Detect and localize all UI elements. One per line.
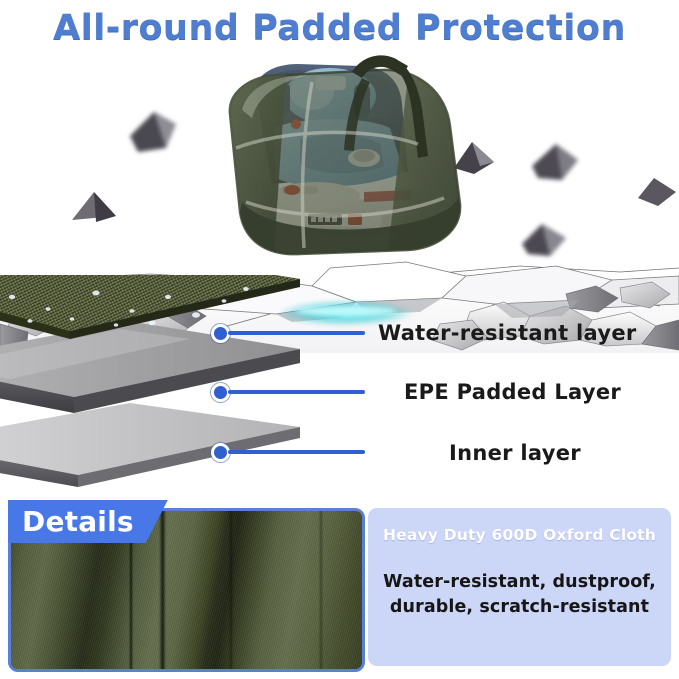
page-title: All-round Padded Protection bbox=[0, 8, 679, 48]
callout-label-epe-padded: EPE Padded Layer bbox=[404, 380, 621, 404]
fabric-fold-seam bbox=[229, 508, 233, 672]
callout-label-water-resistant: Water-resistant layer bbox=[378, 321, 637, 345]
callout-label-inner: Inner layer bbox=[449, 441, 581, 465]
car-seat-in-travel-bag bbox=[212, 52, 470, 270]
fabric-info-heading: Heavy Duty 600D Oxford Cloth bbox=[374, 526, 665, 544]
callout-line-epe-padded bbox=[228, 390, 365, 394]
fabric-info-body: Water-resistant, dustproof, durable, scr… bbox=[374, 570, 665, 621]
debris-shard bbox=[520, 220, 570, 260]
debris-shard bbox=[124, 106, 182, 158]
debris-shard bbox=[528, 140, 582, 184]
layer-stack-diagram bbox=[0, 275, 420, 490]
fabric-fold-seam bbox=[159, 508, 166, 672]
callout-line-water-resistant bbox=[228, 331, 365, 335]
fabric-info-line-1: Water-resistant, dustproof, bbox=[374, 570, 665, 595]
layer-inner-swatch bbox=[0, 403, 300, 487]
details-badge: Details bbox=[8, 500, 168, 543]
callout-line-inner bbox=[228, 450, 365, 454]
fabric-info-line-2: durable, scratch-resistant bbox=[374, 595, 665, 620]
infographic-canvas: All-round Padded Protection bbox=[0, 0, 679, 679]
debris-shard bbox=[70, 188, 120, 226]
details-section: Details Heavy Duty 600D Oxford Cloth Wat… bbox=[0, 498, 679, 679]
fabric-fold-seam bbox=[319, 508, 323, 672]
debris-shard bbox=[636, 176, 678, 210]
fabric-info-panel: Heavy Duty 600D Oxford Cloth Water-resis… bbox=[368, 508, 671, 666]
